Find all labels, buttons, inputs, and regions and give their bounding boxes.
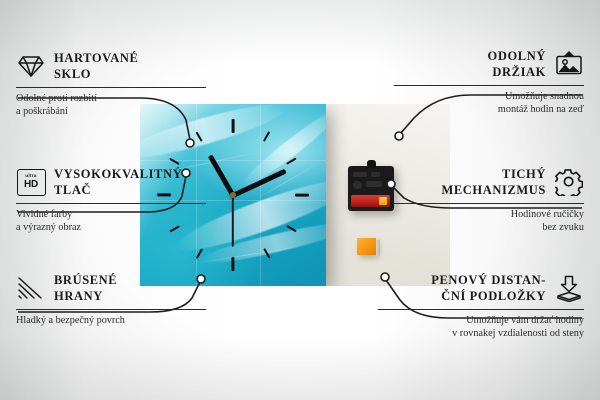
feature-header: ultra HD VYSOKOKVALITNÝ TLAČ <box>16 166 206 198</box>
feature-title: HARTOVANÉ SKLO <box>54 50 138 82</box>
feature-description: Hladký a bezpečný povrch <box>16 314 206 327</box>
divider <box>16 203 206 204</box>
clock-mechanism <box>348 166 394 211</box>
divider <box>16 87 206 88</box>
feature-durable-hanger: ODOLNÝ DRŽIAK Umožňuje snadnou montáž ho… <box>394 48 584 117</box>
feature-description: Umožňuje snadnou montáž hodin na zeď <box>394 90 584 117</box>
battery <box>351 195 390 207</box>
clock-second-hand <box>232 195 234 247</box>
mechanism-detail <box>353 172 367 177</box>
gear-icon <box>554 168 584 196</box>
diamond-icon <box>16 52 46 80</box>
feature-title: BRÚSENÉ HRANY <box>54 272 117 304</box>
feature-header: HARTOVANÉ SKLO <box>16 50 206 82</box>
divider <box>394 85 584 86</box>
feature-header: TICHÝ MECHANIZMUS <box>394 166 584 198</box>
feature-tempered-glass: HARTOVANÉ SKLO Odolné proti rozbití a po… <box>16 50 206 119</box>
feature-title: PENOVÝ DISTAN- ČNÍ PODLOŽKY <box>431 272 546 304</box>
divider <box>378 309 584 310</box>
feature-description: Hodinové ručičky bez zvuku <box>394 208 584 235</box>
feature-polished-edges: BRÚSENÉ HRANY Hladký a bezpečný povrch <box>16 272 206 327</box>
infographic-canvas: HARTOVANÉ SKLO Odolné proti rozbití a po… <box>0 0 600 400</box>
feature-header: BRÚSENÉ HRANY <box>16 272 206 304</box>
feature-description: Odolné proti rozbití a poškrábání <box>16 92 206 119</box>
picture-frame-hanger-icon <box>554 50 584 78</box>
ultra-hd-icon-main-text: HD <box>24 180 38 190</box>
feature-title: TICHÝ MECHANIZMUS <box>441 166 546 198</box>
brushed-edges-icon <box>16 274 46 302</box>
arrow-on-layers-icon <box>554 274 584 302</box>
clock-center-cap <box>230 192 236 198</box>
feature-header: PENOVÝ DISTAN- ČNÍ PODLOŽKY <box>378 272 584 304</box>
feature-title: VYSOKOKVALITNÝ TLAČ <box>54 166 182 198</box>
divider <box>16 309 206 310</box>
foam-spacer-pad <box>357 238 376 255</box>
divider <box>394 203 584 204</box>
feature-description: Vividné farby a výrazný obraz <box>16 208 206 235</box>
feature-silent-mechanism: TICHÝ MECHANIZMUS Hodinové ručičky bez z… <box>394 166 584 235</box>
feature-foam-spacers: PENOVÝ DISTAN- ČNÍ PODLOŽKY Umožňuje vám… <box>378 272 584 341</box>
mechanism-detail <box>366 181 382 187</box>
feature-high-quality-print: ultra HD VYSOKOKVALITNÝ TLAČ Vividné far… <box>16 166 206 235</box>
feature-title: ODOLNÝ DRŽIAK <box>488 48 546 80</box>
feature-description: Umožňuje vám držať hodiny v rovnakej vzd… <box>378 314 584 341</box>
feature-header: ODOLNÝ DRŽIAK <box>394 48 584 80</box>
ultra-hd-icon: ultra HD <box>16 168 46 196</box>
mechanism-shaft <box>367 160 376 168</box>
mechanism-detail <box>353 181 362 189</box>
mechanism-detail <box>371 172 380 177</box>
